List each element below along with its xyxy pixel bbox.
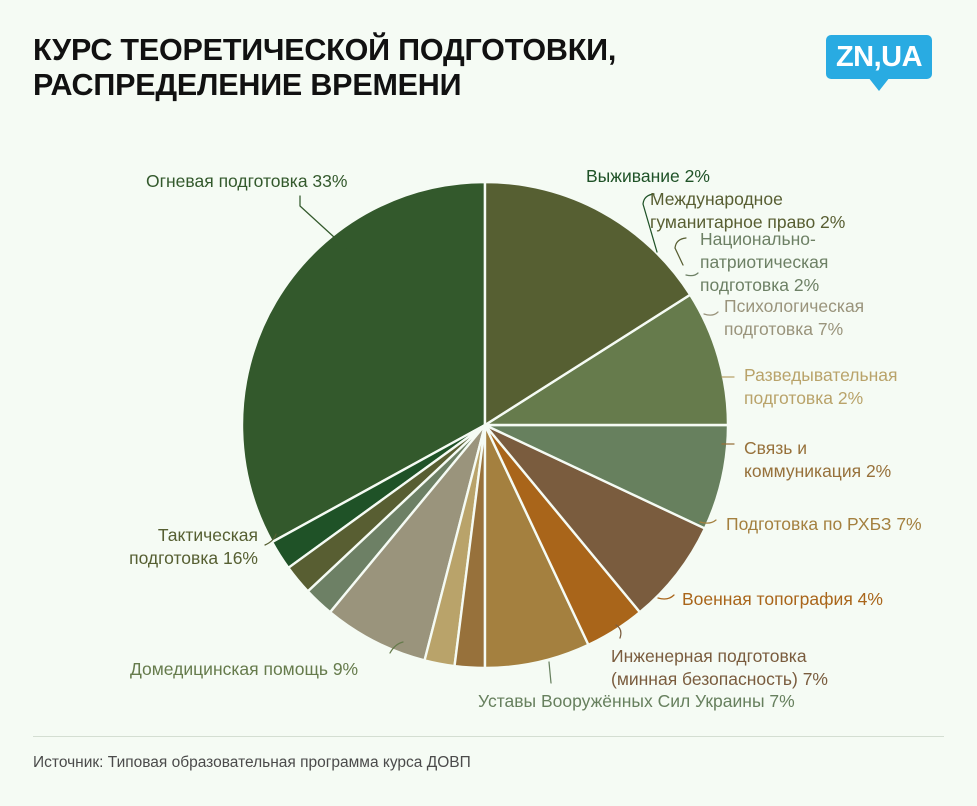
logo-bubble-tail — [868, 77, 890, 91]
pie-slice-label: Связь и коммуникация 2% — [744, 437, 944, 483]
zn-ua-logo[interactable]: ZN,UA — [826, 35, 932, 83]
pie-slice-label: Психологическая подготовка 7% — [724, 295, 934, 341]
leader-line — [704, 312, 718, 315]
pie-slice-label: Выживание 2% — [586, 165, 786, 188]
pie-slice-label: Инженерная подготовка (минная безопаснос… — [611, 645, 911, 691]
pie-chart: Огневая подготовка 33%Выживание 2%Междун… — [0, 132, 977, 736]
footer-divider — [33, 736, 944, 737]
pie-slice-label: Огневая подготовка 33% — [146, 170, 378, 193]
leader-line — [675, 238, 686, 265]
leader-line — [658, 595, 674, 599]
pie-slice-label: Тактическая подготовка 16% — [108, 524, 258, 570]
infographic-page: КУРС ТЕОРЕТИЧЕСКОЙ ПОДГОТОВКИ, РАСПРЕДЕЛ… — [0, 0, 977, 806]
logo-text: ZN,UA — [826, 35, 932, 79]
pie-slice-label: Уставы Вооружённых Сил Украины 7% — [478, 690, 842, 713]
pie-slice-label: Национально- патриотическая подготовка 2… — [700, 228, 900, 297]
pie-slice-label: Военная топография 4% — [682, 588, 912, 611]
leader-line — [549, 662, 551, 683]
leader-line — [686, 273, 698, 276]
pie-slice-label: Разведывательная подготовка 2% — [744, 364, 944, 410]
footer: Источник: Типовая образовательная програ… — [0, 736, 977, 806]
source-note: Источник: Типовая образовательная програ… — [33, 754, 471, 772]
header: КУРС ТЕОРЕТИЧЕСКОЙ ПОДГОТОВКИ, РАСПРЕДЕЛ… — [0, 0, 977, 132]
pie-slice-label: Домедицинская помощь 9% — [130, 658, 400, 681]
page-title: КУРС ТЕОРЕТИЧЕСКОЙ ПОДГОТОВКИ, РАСПРЕДЕЛ… — [33, 33, 773, 103]
pie-slice-group — [242, 182, 728, 668]
pie-slice-label: Подготовка по РХБЗ 7% — [726, 513, 956, 536]
